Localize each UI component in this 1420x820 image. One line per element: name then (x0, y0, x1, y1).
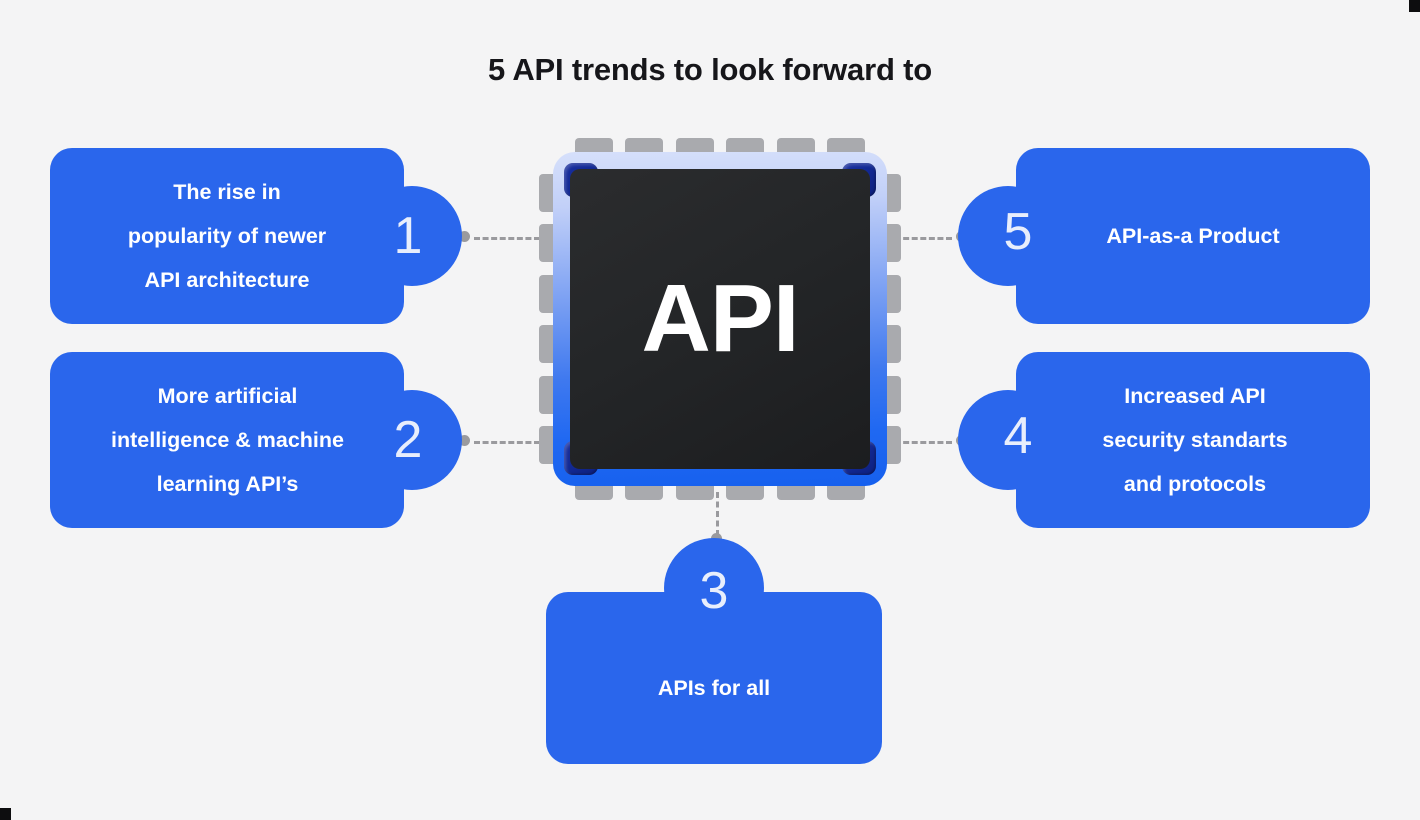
chip-label: API (570, 169, 870, 469)
trend-card-5-text: API-as-a Product (1048, 214, 1338, 258)
crop-mark-top-right (1409, 0, 1420, 12)
infographic-canvas: 5 API trends to look forward to 1 The ri… (0, 0, 1420, 820)
cpu-chip-icon: API (535, 140, 905, 510)
chip-die: API (570, 169, 870, 469)
trend-card-3-number: 3 (684, 565, 744, 617)
page-title: 5 API trends to look forward to (0, 52, 1420, 88)
connector-line-1 (474, 237, 540, 240)
chip-frame: API (553, 152, 887, 486)
connector-line-2 (474, 441, 540, 444)
trend-card-1-text: The rise in popularity of newer API arch… (62, 170, 392, 302)
trend-card-4-text: Increased API security standarts and pro… (1026, 374, 1364, 506)
trend-card-2-text: More artificial intelligence & machine l… (55, 374, 400, 506)
trend-card-3-text: APIs for all (566, 668, 862, 708)
trend-card-5-number: 5 (988, 206, 1048, 258)
crop-mark-bottom-left (0, 808, 11, 820)
